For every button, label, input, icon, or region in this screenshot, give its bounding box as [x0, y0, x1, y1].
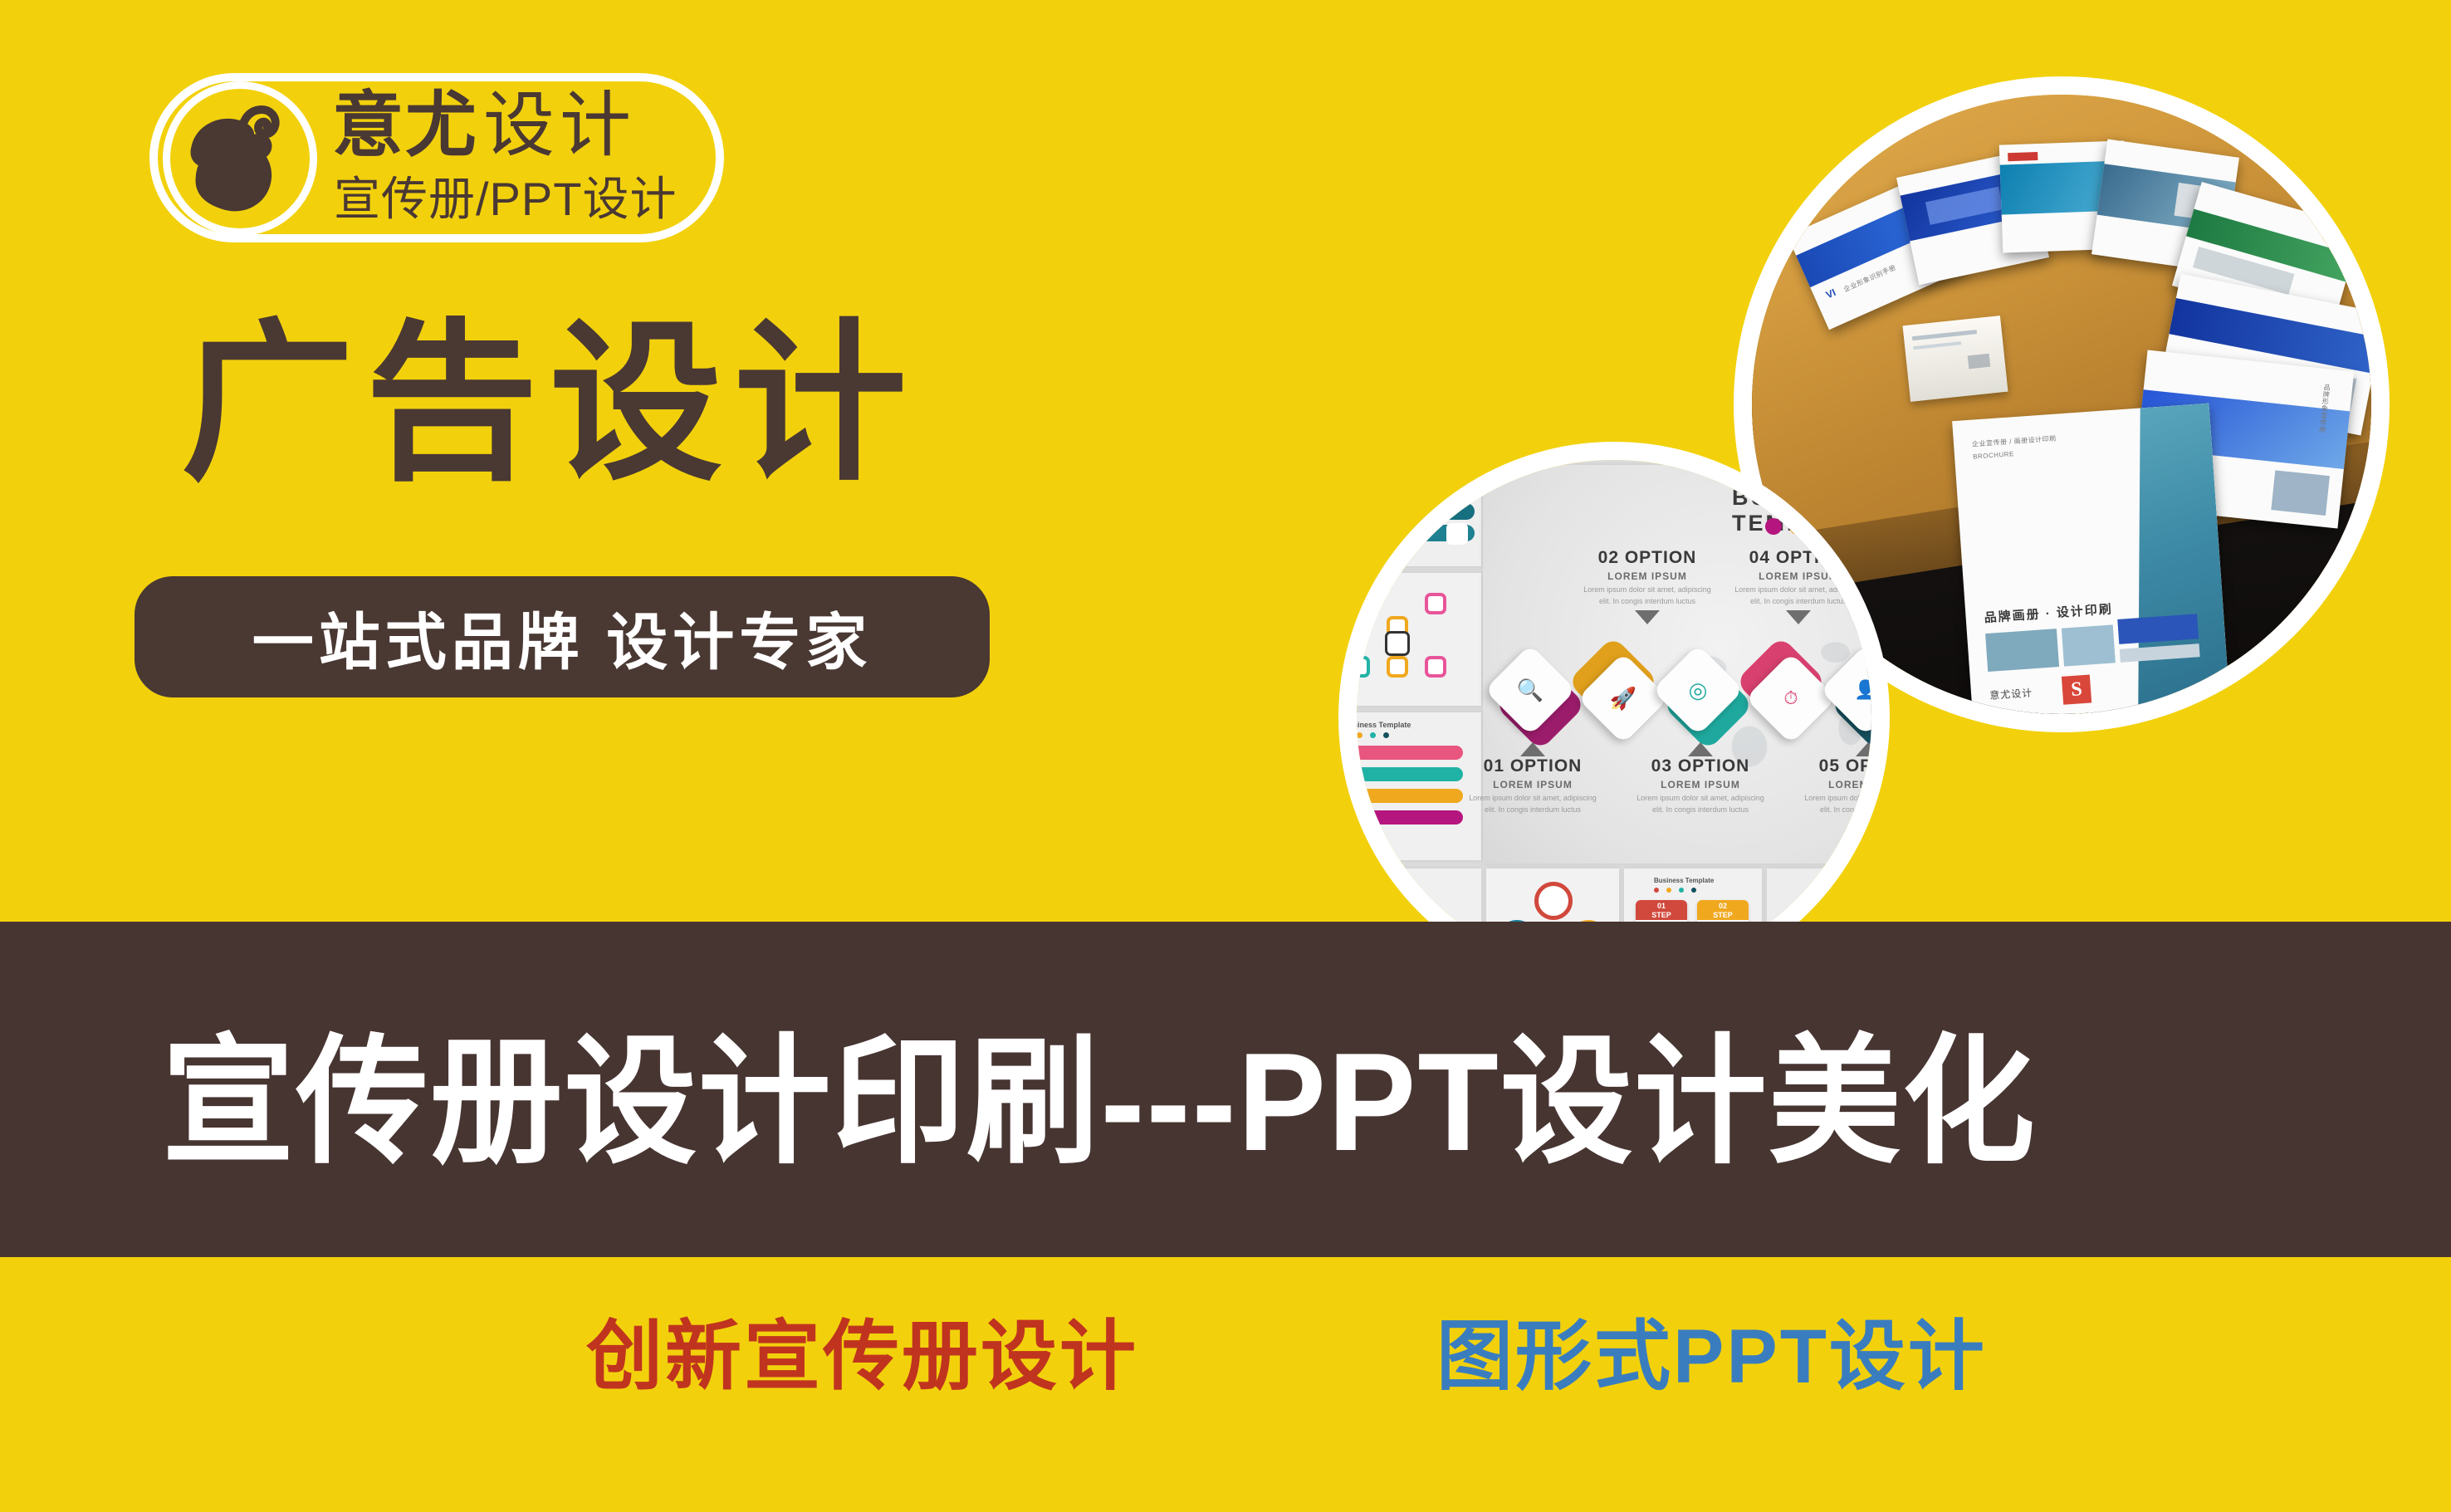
badge-label: 一站式品牌 设计专家: [252, 593, 873, 682]
logo-seed-sprout-icon: [163, 81, 317, 236]
option-body: Lorem ipsum dolor sit amet, adipiscing e…: [1802, 793, 1871, 815]
logo-brand-light: 设计: [483, 90, 636, 161]
option-number: 04 OPTION: [1732, 548, 1865, 568]
acrylic-card-holder: [1903, 316, 2008, 402]
palette-dot: [1861, 518, 1871, 535]
triangle-down-icon: [1635, 610, 1660, 624]
clock-icon: ⏱: [1759, 666, 1823, 731]
triangle-down-icon: [1786, 610, 1811, 624]
option-block-04: 04 OPTION LOREM IPSUM Lorem ipsum dolor …: [1732, 548, 1865, 624]
slide-thumb-header: [1357, 470, 1481, 566]
triangle-up-icon: [1520, 742, 1545, 756]
logo-subtitle: 宣传册/PPT设计: [334, 176, 677, 223]
brand-stamp-s: S: [2062, 674, 2091, 704]
triangle-up-icon: [1688, 742, 1713, 756]
promo-strip: 宣传册设计印刷---PPT设计美化: [0, 922, 2451, 1257]
option-body: Lorem ipsum dolor sit amet, adipiscing e…: [1466, 793, 1599, 815]
page-title: 广告设计: [181, 314, 918, 495]
status-badge: 一站式品牌 设计专家: [135, 576, 990, 697]
option-sub: LOREM IPSUM: [1466, 779, 1599, 790]
option-block-02: 02 OPTION LOREM IPSUM Lorem ipsum dolor …: [1581, 548, 1714, 624]
slide-main-5-options: BUSINESS TEMPLATE 02 OPTION LOREM IPSUM …: [1483, 465, 1871, 864]
logo-brand-bold: 意尤: [332, 90, 478, 161]
option-sub: LOREM IPSUM: [1581, 570, 1714, 582]
slide-thumb-node-cross: [1357, 573, 1481, 706]
target-icon: ◎: [1666, 658, 1730, 722]
option-block-01: 01 OPTION LOREM IPSUM Lorem ipsum dolor …: [1466, 739, 1599, 815]
magnifier-icon: 🔍: [1498, 658, 1563, 722]
presenter-icon: 👤: [1833, 658, 1871, 722]
option-sub: LOREM IPSUM: [1802, 779, 1871, 790]
option-number: 02 OPTION: [1581, 548, 1714, 568]
option-sub: LOREM IPSUM: [1732, 570, 1865, 582]
option-number: 05 OPTION: [1802, 756, 1871, 776]
option-block-03: 03 OPTION LOREM IPSUM Lorem ipsum dolor …: [1634, 739, 1767, 815]
ppt-collage: Business Template BUSINESS TEMPLATE: [1357, 460, 1871, 975]
brochure-front: 企业宣传册 / 画册设计印刷 BROCHURE 品牌画册 · 设计印刷 意尤设计…: [1952, 404, 2231, 714]
tagline-right: 图形式PPT设计: [1436, 1294, 1987, 1405]
seed-sprout-svg: [170, 89, 310, 228]
palette-dot: [1789, 518, 1806, 535]
palette-dot: [1837, 518, 1854, 535]
tagline-left: 创新宣传册设计: [586, 1294, 1138, 1405]
palette-dot: [1813, 518, 1830, 535]
palette-dot: [1765, 518, 1782, 535]
option-body: Lorem ipsum dolor sit amet, adipiscing e…: [1581, 585, 1714, 607]
tagline-row: 创新宣传册设计 图形式PPT设计: [0, 1283, 2451, 1416]
logo-brand-name: 意尤 设计: [332, 80, 722, 171]
triangle-up-icon: [1856, 742, 1871, 756]
promo-strip-text: 宣传册设计印刷---PPT设计美化: [162, 989, 2037, 1191]
option-body: Lorem ipsum dolor sit amet, adipiscing e…: [1732, 585, 1865, 607]
palette-dots: [1765, 518, 1871, 535]
rocket-icon: 🚀: [1591, 666, 1656, 731]
ppt-templates-circle: Business Template BUSINESS TEMPLATE: [1338, 442, 1890, 993]
option-number: 01 OPTION: [1466, 756, 1599, 776]
slide-thumb-pyramid: Business Template: [1357, 712, 1481, 860]
option-sub: LOREM IPSUM: [1634, 779, 1767, 790]
option-body: Lorem ipsum dolor sit amet, adipiscing e…: [1634, 793, 1767, 815]
option-number: 03 OPTION: [1634, 756, 1767, 776]
option-block-05: 05 OPTION LOREM IPSUM Lorem ipsum dolor …: [1802, 739, 1871, 815]
